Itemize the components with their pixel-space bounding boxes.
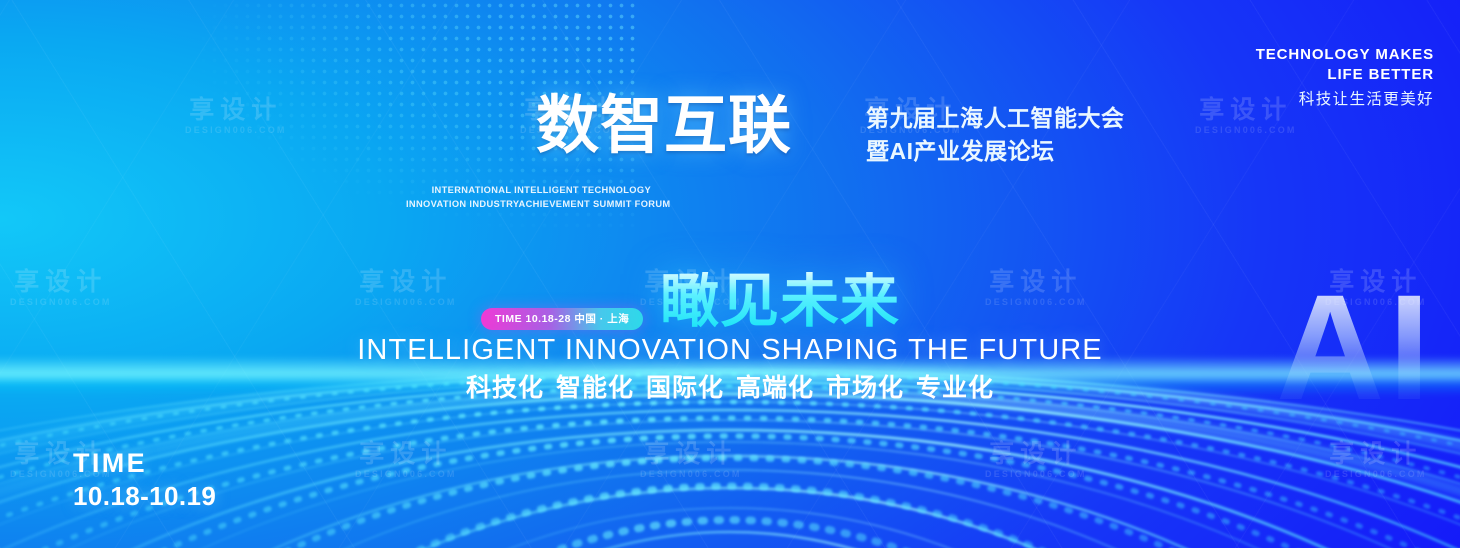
eyebrow-line2: INNOVATION INDUSTRYACHIEVEMENT SUMMIT FO… bbox=[406, 198, 651, 212]
eyebrow-english: INTERNATIONAL INTELLIGENT TECHNOLOGY INN… bbox=[406, 184, 651, 212]
event-poster: 享设计DESIGN006.COM享设计DESIGN006.COM享设计DESIG… bbox=[0, 0, 1460, 548]
corner-slogan-line2: LIFE BETTER bbox=[1256, 65, 1434, 85]
subtitle-chinese-line2: 暨AI产业发展论坛 bbox=[866, 135, 1125, 168]
time-label: TIME bbox=[73, 448, 216, 480]
keyword-item: 高端化 bbox=[736, 374, 814, 402]
headline-main-row: 数智互联 第九届上海人工智能大会 暨AI产业发展论坛 bbox=[0, 96, 1460, 166]
time-date: 10.18-10.19 bbox=[73, 480, 216, 513]
keyword-row: 科技化智能化国际化高端化市场化专业化 bbox=[0, 368, 1460, 404]
time-block: TIME 10.18-10.19 bbox=[73, 448, 216, 512]
main-title-line2: 瞰见未来 bbox=[660, 272, 900, 331]
headline-zone: 数智互联 第九届上海人工智能大会 暨AI产业发展论坛 INTERNATIONAL… bbox=[0, 96, 1460, 166]
english-slogan: INTELLIGENT INNOVATION SHAPING THE FUTUR… bbox=[0, 334, 1460, 367]
subtitle-chinese: 第九届上海人工智能大会 暨AI产业发展论坛 bbox=[866, 102, 1125, 167]
keyword-item: 科技化 bbox=[466, 374, 544, 402]
keyword-item: 国际化 bbox=[646, 374, 724, 402]
subtitle-chinese-line1: 第九届上海人工智能大会 bbox=[866, 102, 1125, 135]
keyword-item: 专业化 bbox=[916, 374, 994, 402]
corner-slogan-line1: TECHNOLOGY MAKES bbox=[1256, 45, 1434, 65]
eyebrow-line1: INTERNATIONAL INTELLIGENT TECHNOLOGY bbox=[406, 184, 651, 198]
time-location-badge: TIME 10.18-28 中国 · 上海 bbox=[481, 308, 643, 330]
keyword-item: 智能化 bbox=[556, 374, 634, 402]
main-title-line1: 数智互联 bbox=[536, 95, 792, 158]
keyword-item: 市场化 bbox=[826, 374, 904, 402]
poster-content: TECHNOLOGY MAKES LIFE BETTER 科技让生活更美好 数智… bbox=[0, 0, 1460, 548]
